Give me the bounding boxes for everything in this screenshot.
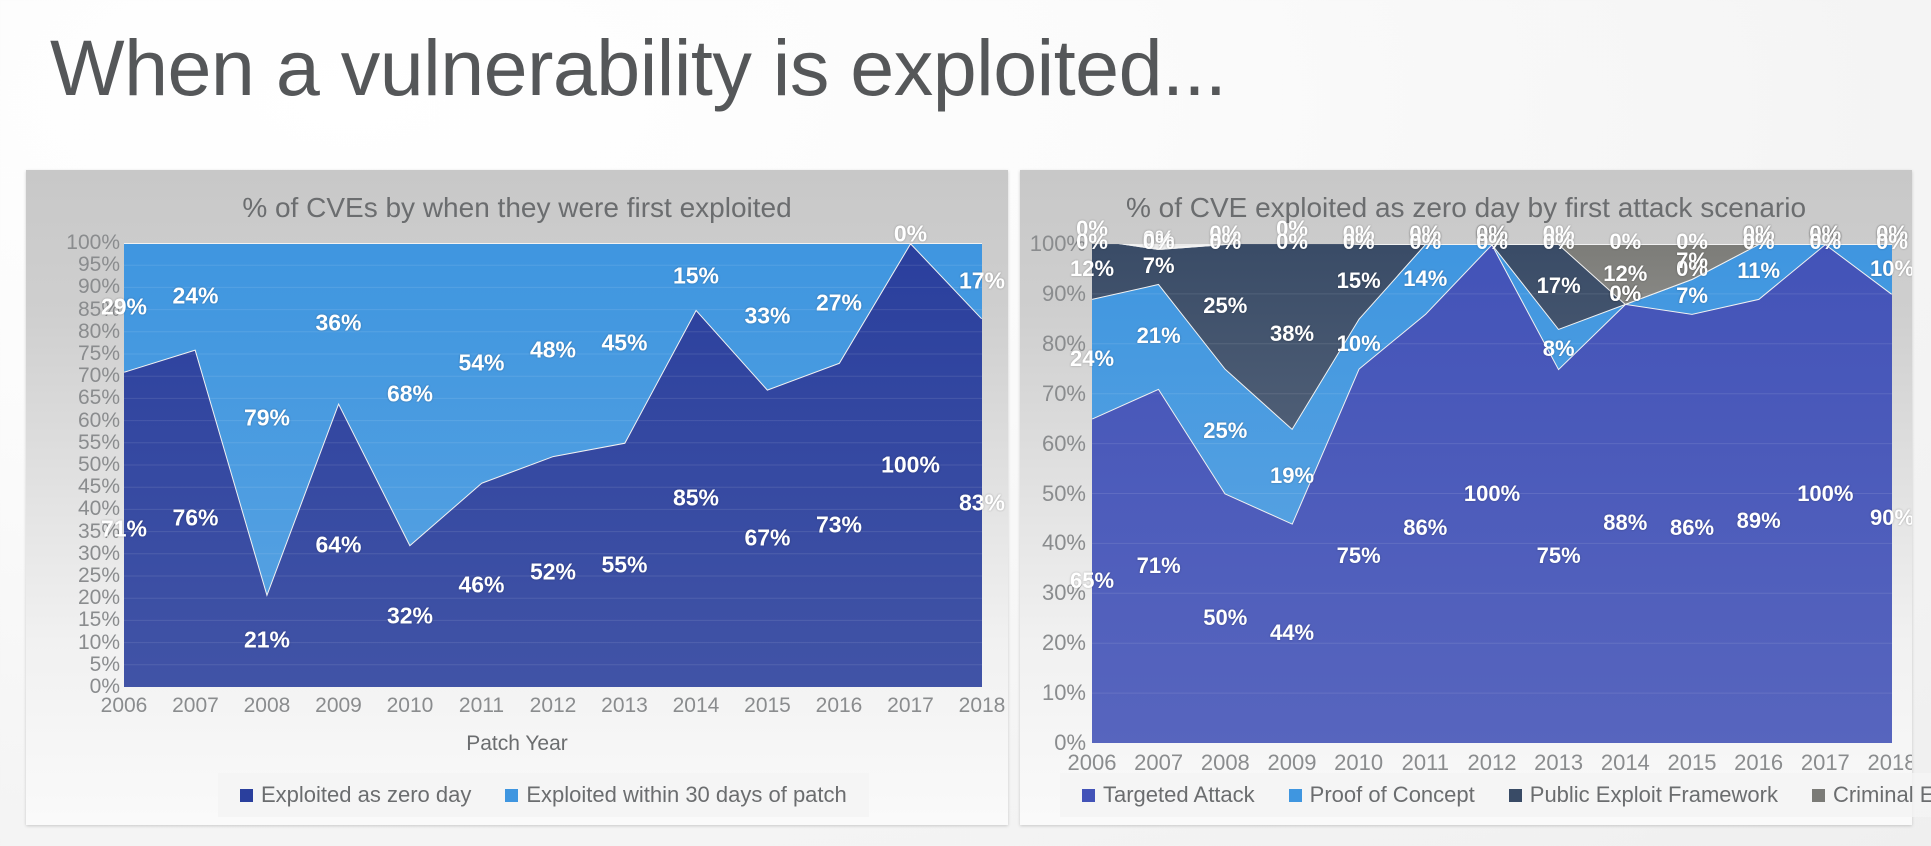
page-title: When a vulnerability is exploited... — [50, 22, 1226, 114]
y-axis-left: 0%5%10%15%20%25%30%35%40%45%50%55%60%65%… — [46, 243, 120, 687]
legend-item[interactable]: Public Exploit Framework — [1509, 782, 1778, 808]
y-axis-tick: 70% — [1042, 381, 1086, 407]
legend-swatch-icon — [1509, 789, 1522, 802]
y-axis-right: 0%10%20%30%40%50%60%70%80%90%100% — [1020, 244, 1086, 743]
legend-left: Exploited as zero dayExploited within 30… — [218, 773, 869, 817]
plot-area-right: 65%71%50%44%75%86%100%75%88%86%89%100%90… — [1092, 244, 1892, 743]
x-axis-tick: 2013 — [601, 694, 648, 718]
y-axis-tick: 5% — [90, 653, 120, 677]
x-axis-tick: 2006 — [101, 694, 148, 718]
legend-right: Targeted AttackProof of ConceptPublic Ex… — [1060, 773, 1931, 817]
legend-item[interactable]: Exploited as zero day — [240, 782, 471, 808]
x-axis-tick: 2011 — [459, 694, 504, 718]
y-axis-tick: 25% — [78, 564, 120, 588]
legend-label: Proof of Concept — [1310, 782, 1475, 808]
y-axis-tick: 15% — [78, 608, 120, 632]
y-axis-tick: 30% — [1042, 580, 1086, 606]
y-axis-tick: 60% — [1042, 431, 1086, 457]
y-axis-tick: 10% — [1042, 680, 1086, 706]
plot-area-left: 71%76%21%64%32%46%52%55%85%67%73%100%83%… — [124, 243, 982, 687]
y-axis-tick: 60% — [78, 409, 120, 433]
y-axis-tick: 90% — [78, 275, 120, 299]
y-axis-tick: 75% — [78, 342, 120, 366]
x-axis-title-left: Patch Year — [26, 732, 1008, 756]
legend-item[interactable]: Exploited within 30 days of patch — [505, 782, 846, 808]
chart-panel-right[interactable]: % of CVE exploited as zero day by first … — [1020, 170, 1912, 825]
y-axis-tick: 80% — [78, 320, 120, 344]
legend-label: Exploited as zero day — [261, 782, 471, 808]
legend-swatch-icon — [1812, 789, 1825, 802]
area-chart-right — [1092, 244, 1892, 743]
legend-swatch-icon — [505, 789, 518, 802]
x-axis-tick: 2012 — [530, 694, 577, 718]
x-axis-tick: 2014 — [673, 694, 720, 718]
area-chart-left — [124, 243, 982, 687]
chart-title-right: % of CVE exploited as zero day by first … — [1020, 192, 1912, 224]
legend-swatch-icon — [1289, 789, 1302, 802]
legend-item[interactable]: Criminal Exploit Kit — [1812, 782, 1931, 808]
x-axis-tick: 2007 — [172, 694, 219, 718]
legend-item[interactable]: Targeted Attack — [1082, 782, 1255, 808]
legend-label: Criminal Exploit Kit — [1833, 782, 1931, 808]
y-axis-tick: 30% — [78, 542, 120, 566]
y-axis-tick: 35% — [78, 520, 120, 544]
y-axis-tick: 100% — [66, 231, 120, 255]
legend-swatch-icon — [240, 789, 253, 802]
chart-panel-left[interactable]: % of CVEs by when they were first exploi… — [26, 170, 1008, 825]
x-axis-tick: 2009 — [315, 694, 362, 718]
y-axis-tick: 50% — [1042, 481, 1086, 507]
y-axis-tick: 10% — [78, 631, 120, 655]
y-axis-tick: 55% — [78, 431, 120, 455]
legend-swatch-icon — [1082, 789, 1095, 802]
chart-title-left: % of CVEs by when they were first exploi… — [26, 192, 1008, 224]
legend-item[interactable]: Proof of Concept — [1289, 782, 1475, 808]
y-axis-tick: 40% — [1042, 530, 1086, 556]
x-axis-tick: 2018 — [959, 694, 1006, 718]
y-axis-tick: 70% — [78, 364, 120, 388]
x-axis-tick: 2015 — [744, 694, 791, 718]
x-axis-tick: 2010 — [387, 694, 434, 718]
legend-label: Exploited within 30 days of patch — [526, 782, 846, 808]
x-axis-tick: 2016 — [816, 694, 863, 718]
legend-label: Public Exploit Framework — [1530, 782, 1778, 808]
y-axis-tick: 65% — [78, 386, 120, 410]
x-axis-tick: 2008 — [244, 694, 291, 718]
y-axis-tick: 90% — [1042, 281, 1086, 307]
legend-label: Targeted Attack — [1103, 782, 1255, 808]
y-axis-tick: 20% — [1042, 630, 1086, 656]
y-axis-tick: 45% — [78, 475, 120, 499]
y-axis-tick: 85% — [78, 298, 120, 322]
y-axis-tick: 50% — [78, 453, 120, 477]
y-axis-tick: 40% — [78, 497, 120, 521]
y-axis-tick: 100% — [1030, 231, 1086, 257]
y-axis-tick: 95% — [78, 253, 120, 277]
y-axis-tick: 20% — [78, 586, 120, 610]
y-axis-tick: 80% — [1042, 331, 1086, 357]
x-axis-left: 2006200720082009201020112012201320142015… — [124, 694, 982, 728]
x-axis-tick: 2017 — [887, 694, 934, 718]
